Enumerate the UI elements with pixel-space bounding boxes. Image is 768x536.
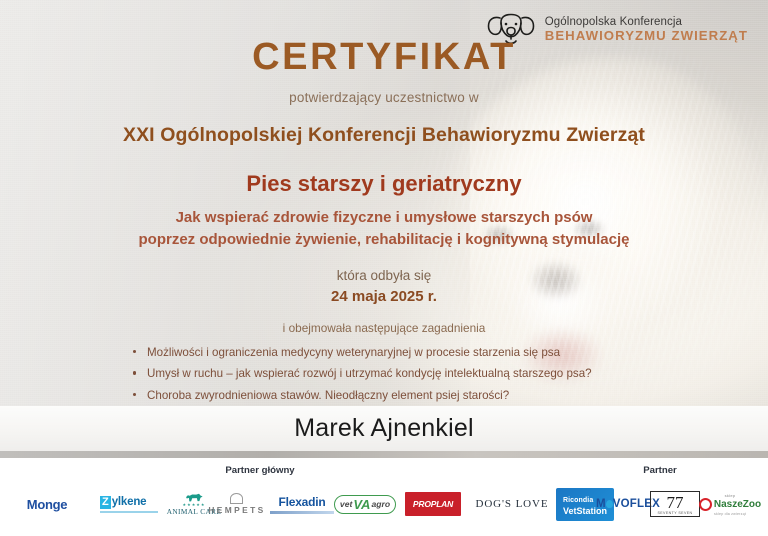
- recipient-name-band: Marek Ajnenkiel: [0, 406, 768, 451]
- conference-description: Jak wspierać zdrowie fizyczne i umysłowe…: [0, 207, 768, 251]
- partner-label: Partner: [560, 465, 760, 476]
- sponsor-footer: Partner główny Partner Monge Z ylkene: [0, 458, 768, 536]
- zylkene-lockup: Z ylkene: [100, 496, 146, 509]
- vetviagro-lockup: vet VA agro: [334, 495, 396, 514]
- ring-icon: [699, 498, 712, 511]
- seventyseven-caption: SEVENTY SEVEN: [657, 511, 692, 515]
- description-line-1: Jak wspierać zdrowie fizyczne i umysłowe…: [0, 207, 768, 229]
- zylkene-rest: ylkene: [112, 496, 147, 508]
- vetviagro-suffix: agro: [371, 499, 390, 509]
- conference-topic-title: Pies starszy i geriatryczny: [0, 171, 768, 197]
- list-item: Choroba zwyrodnieniowa stawów. Nieodłącz…: [133, 388, 653, 403]
- naszezoo-lockup: sklep NaszeZoo sklep dla zwierząt: [699, 493, 761, 516]
- monge-wordmark: Monge: [27, 497, 67, 512]
- seventyseven-lockup: 77 SEVENTY SEVEN: [650, 491, 699, 517]
- conference-date: 24 maja 2025 r.: [0, 288, 768, 305]
- vetviagro-prefix: vet: [340, 499, 352, 509]
- leaf-icon: [230, 493, 243, 504]
- sponsor-logo-row: Monge Z ylkene ★★★★★ ANIMAL CARE: [0, 482, 768, 532]
- list-item: Umysł w ruchu – jak wspierać rozwój i ut…: [133, 366, 653, 381]
- droplet-icon: [606, 500, 613, 508]
- sponsor-logo-monge[interactable]: Monge: [8, 482, 86, 526]
- naszezoo-tagline: sklep dla zwierząt: [714, 512, 746, 516]
- topics-intro: i obejmowała następujące zagadnienia: [0, 321, 768, 335]
- held-label: która odbyła się: [0, 268, 768, 283]
- description-line-2: poprzez odpowiednie żywienie, rehabilita…: [0, 229, 768, 251]
- page-title: CERTYFIKAT: [0, 38, 768, 76]
- certificate-page: Ogólnopolska Konferencja BEHAWIORYZMU ZW…: [0, 0, 768, 536]
- certificate-body: CERTYFIKAT potwierdzający uczestnictwo w…: [0, 0, 768, 432]
- sponsor-logo-vetviagro[interactable]: vet VA agro: [322, 482, 408, 526]
- zylkene-z-box: Z: [100, 496, 111, 509]
- flexadin-wordmark: Flexadin: [278, 495, 325, 509]
- list-item: Możliwości i ograniczenia medycyny weter…: [133, 345, 653, 360]
- naszezoo-main: NaszeZoo: [699, 498, 761, 511]
- band-divider: [0, 451, 768, 458]
- proplan-wordmark: PROPLAN: [405, 492, 461, 516]
- sponsor-logo-naszezoo[interactable]: sklep NaszeZoo sklep dla zwierząt: [694, 482, 766, 526]
- vetviagro-mid: VA: [353, 497, 370, 512]
- sponsor-logo-dogs-love[interactable]: DOG'S LOVE: [462, 482, 562, 526]
- certificate-subtitle: potwierdzający uczestnictwo w: [0, 90, 768, 105]
- sponsor-logo-77[interactable]: 77 SEVENTY SEVEN: [650, 482, 700, 526]
- recipient-name: Marek Ajnenkiel: [294, 414, 473, 443]
- sponsor-logo-proplan[interactable]: PROPLAN: [398, 482, 468, 526]
- main-partner-label: Partner główny: [0, 465, 520, 476]
- movoflex-prefix: M: [596, 498, 606, 510]
- conference-name: XXI Ogólnopolskiej Konferencji Behawiory…: [0, 124, 768, 147]
- partner-labels: Partner główny Partner: [0, 458, 768, 482]
- dogs-love-wordmark: DOG'S LOVE: [475, 498, 548, 510]
- seventyseven-number: 77: [667, 494, 684, 511]
- naszezoo-wordmark: NaszeZoo: [714, 499, 761, 510]
